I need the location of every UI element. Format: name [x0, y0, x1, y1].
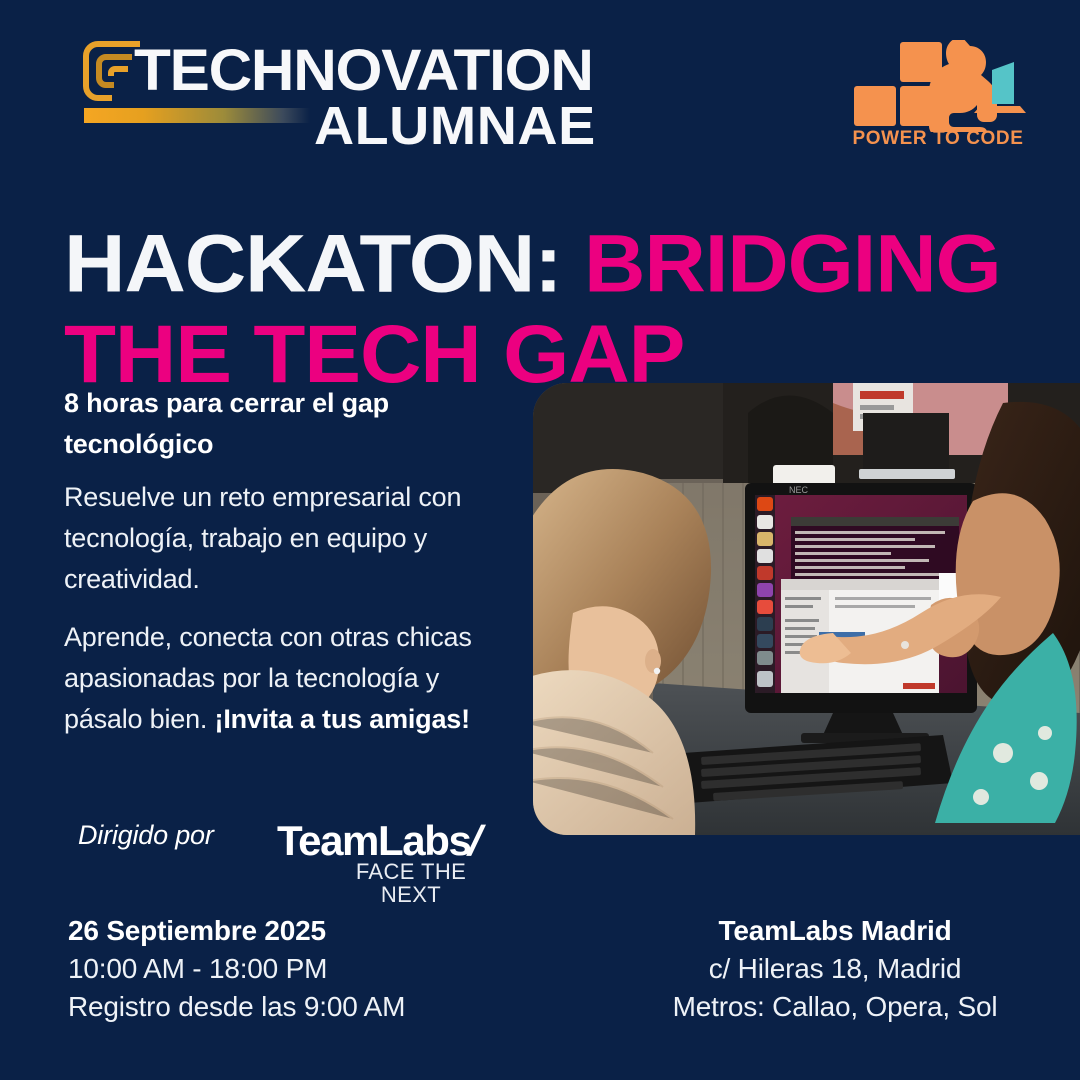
technovation-gold-bar — [84, 108, 310, 123]
event-photo-illustration: NEC — [533, 383, 1080, 835]
technovation-alumnae-word: ALUMNAE — [314, 96, 596, 156]
girl-with-laptop-icon — [852, 40, 1032, 132]
body-paragraph-2-cta: ¡Invita a tus amigas! — [215, 704, 470, 734]
event-time: 10:00 AM - 18:00 PM — [68, 950, 498, 988]
body-paragraph-2: Aprende, conecta con otras chicas apasio… — [64, 617, 504, 740]
venue-transit: Metros: Callao, Opera, Sol — [600, 988, 1070, 1026]
event-photo: NEC — [533, 383, 1080, 835]
footer-left-block: 26 Septiembre 2025 10:00 AM - 18:00 PM R… — [68, 912, 498, 1026]
venue-name: TeamLabs Madrid — [600, 912, 1070, 950]
teamlabs-tagline-line1: FACE THE — [337, 860, 485, 883]
poster-headline: HACKATON: BRIDGING THE TECH GAP — [64, 219, 1080, 400]
teamlabs-logo: TeamLabs/ FACE THE NEXT — [277, 818, 502, 896]
power-to-code-logo: POWER TO CODE — [852, 40, 1032, 152]
organizer-prefix: Dirigido por — [78, 820, 214, 851]
power-to-code-label: POWER TO CODE — [852, 128, 1024, 150]
teamlabs-tagline-line2: NEXT — [337, 883, 485, 906]
teamlabs-name-text: TeamLabs — [277, 817, 470, 864]
poster-root: TECHNOVATION ALUMNAE POWER TO CODE HACKA… — [0, 0, 1080, 1080]
event-registration: Registro desde las 9:00 AM — [68, 988, 498, 1026]
headline-white: HACKATON: — [64, 218, 561, 310]
teamlabs-wordmark: TeamLabs/ — [277, 818, 481, 864]
headline-pink-1: BRIDGING — [584, 218, 1001, 310]
body-paragraph-1: Resuelve un reto empresarial con tecnolo… — [64, 477, 504, 600]
event-date: 26 Septiembre 2025 — [68, 912, 498, 950]
lead-text: 8 horas para cerrar el gap tecnológico — [64, 383, 504, 465]
technovation-wordmark: TECHNOVATION — [134, 38, 593, 104]
svg-text:NEC: NEC — [789, 485, 809, 495]
venue-address: c/ Hileras 18, Madrid — [600, 950, 1070, 988]
teamlabs-tagline: FACE THE NEXT — [337, 860, 485, 906]
technovation-alumnae-logo: TECHNOVATION ALUMNAE — [82, 38, 552, 148]
footer-right-block: TeamLabs Madrid c/ Hileras 18, Madrid Me… — [600, 912, 1070, 1026]
